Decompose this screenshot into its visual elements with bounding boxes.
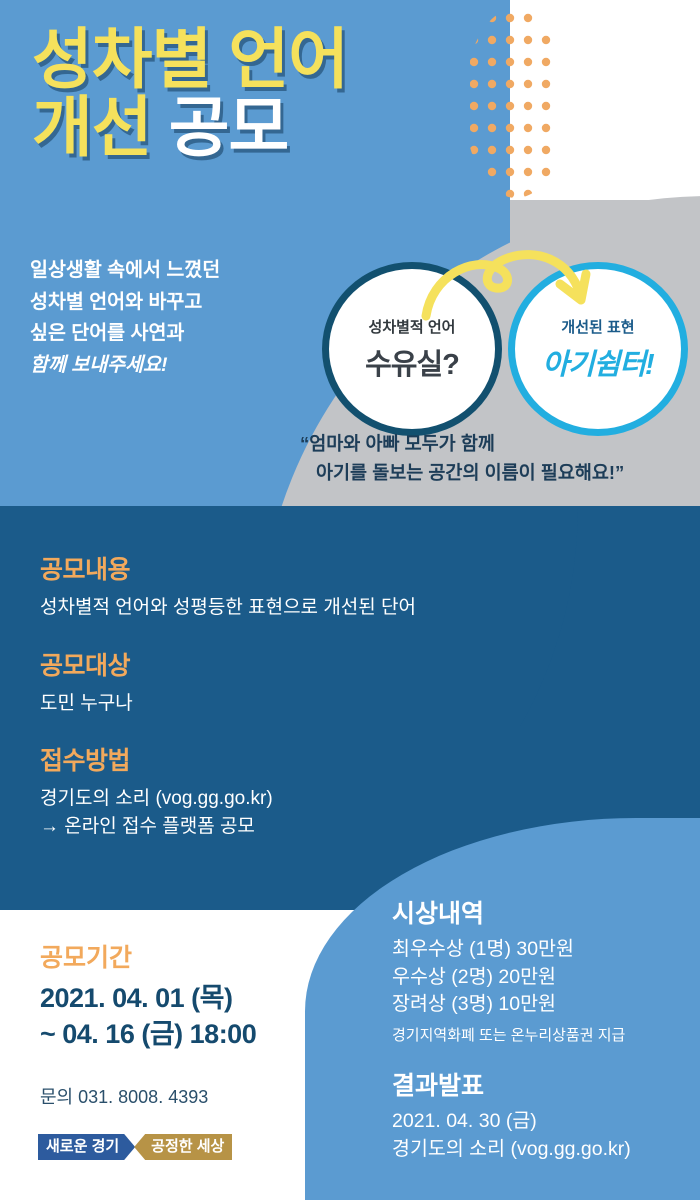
contest-details: 공모내용 성차별적 언어와 성평등한 표현으로 개선된 단어 공모대상 도민 누…: [40, 550, 480, 865]
bubble-new-term: 아기쉼터!: [542, 341, 653, 383]
title-line-2-white: 공모: [169, 90, 288, 164]
dot-pattern-decoration: [470, 8, 558, 198]
slogan-tag-right: 공정한 세상: [134, 1134, 232, 1160]
poster-title: 성차별 언어 개선 공모: [32, 26, 348, 162]
period-end-date: ~ 04. 16 (금) 18:00: [40, 1016, 370, 1052]
award-prize-item: 최우수상 (1명) 30만원: [392, 936, 692, 964]
title-line-2-yellow: 개선: [32, 90, 151, 164]
section-body-line: 성차별적 언어와 성평등한 표현으로 개선된 단어: [40, 594, 480, 622]
contact-phone: 문의 031. 8008. 4393: [40, 1083, 370, 1109]
section-body-line: → 온라인 접수 플랫폼 공모: [40, 813, 480, 841]
section-heading: 접수방법: [40, 741, 480, 777]
result-date: 2021. 04. 30 (금): [392, 1108, 692, 1136]
awards-block: 시상내역 최우수상 (1명) 30만원 우수상 (2명) 20만원 장려상 (3…: [392, 894, 692, 1163]
intro-line-4: 함께 보내주세요!: [30, 350, 220, 382]
title-line-1: 성차별 언어: [32, 26, 348, 94]
intro-line-1: 일상생활 속에서 느꼈던: [30, 255, 220, 287]
bubble-old-term: 수유실?: [365, 341, 459, 383]
quote-text: “엄마와 아빠 모두가 함께 아기를 돌보는 공간의 이름이 필요해요!”: [300, 430, 624, 487]
section-how-to-apply: 접수방법 경기도의 소리 (vog.gg.go.kr) → 온라인 접수 플랫폼…: [40, 741, 480, 840]
result-channel: 경기도의 소리 (vog.gg.go.kr): [392, 1136, 692, 1164]
award-prize-item: 우수상 (2명) 20만원: [392, 964, 692, 992]
section-heading: 공모대상: [40, 646, 480, 682]
result-heading: 결과발표: [392, 1066, 692, 1102]
section-body-line: 도민 누구나: [40, 690, 480, 718]
intro-line-3: 싶은 단어를 사연과: [30, 318, 220, 350]
awards-heading: 시상내역: [392, 894, 692, 930]
slogan-tag-left: 새로운 경기: [38, 1134, 135, 1160]
awards-note: 경기지역화폐 또는 온누리상품권 지급: [392, 1024, 692, 1045]
quote-line-2: 아기를 돌보는 공간의 이름이 필요해요!”: [316, 459, 624, 488]
title-line-2: 개선 공모: [32, 94, 348, 162]
award-prize-item: 장려상 (3명) 10만원: [392, 991, 692, 1019]
section-contest-content: 공모내용 성차별적 언어와 성평등한 표현으로 개선된 단어: [40, 550, 480, 622]
intro-line-2: 성차별 언어와 바꾸고: [30, 287, 220, 319]
period-heading: 공모기간: [40, 938, 370, 974]
section-body-line: 경기도의 소리 (vog.gg.go.kr): [40, 785, 480, 813]
section-heading: 공모내용: [40, 550, 480, 586]
gyeonggi-slogan-logo: 새로운 경기 공정한 세상: [38, 1134, 232, 1160]
poster-root: 성차별 언어 개선 공모 일상생활 속에서 느꼈던 성차별 언어와 바꾸고 싶은…: [0, 0, 700, 1200]
curved-arrow-icon: [420, 240, 600, 322]
period-start-date: 2021. 04. 01 (목): [40, 980, 370, 1016]
section-eligibility: 공모대상 도민 누구나: [40, 646, 480, 718]
contest-period-block: 공모기간 2021. 04. 01 (목) ~ 04. 16 (금) 18:00…: [40, 938, 370, 1109]
intro-paragraph: 일상생활 속에서 느꼈던 성차별 언어와 바꾸고 싶은 단어를 사연과 함께 보…: [30, 255, 220, 381]
quote-line-1: “엄마와 아빠 모두가 함께: [300, 430, 624, 459]
